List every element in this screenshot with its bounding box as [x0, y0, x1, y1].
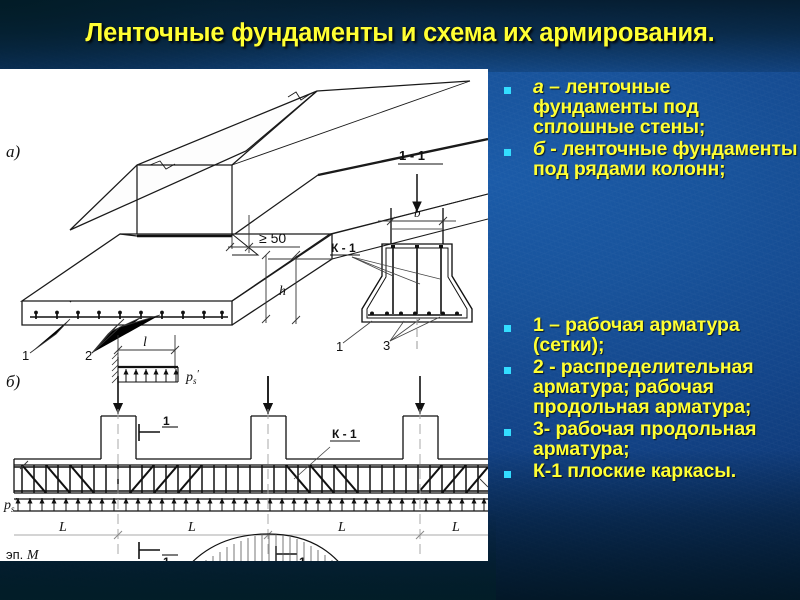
- figure-cut-mark-1-bottom: 1: [163, 555, 170, 561]
- figure-label-k1-section: К - 1: [331, 241, 356, 255]
- figure-label-l: l: [143, 335, 147, 350]
- bullet-text-b: б - ленточные фундаменты под рядами коло…: [533, 140, 800, 180]
- bullet-square-icon: [504, 325, 511, 332]
- figure-cut-mark-1-top: 1: [163, 414, 170, 428]
- figure-span-L-3: L: [337, 520, 346, 535]
- bullet-square-icon: [504, 429, 511, 436]
- bullet-lead-a: а: [533, 76, 544, 98]
- slide-title: Ленточные фундаменты и схема их армирова…: [0, 19, 800, 48]
- figure-span-L-4: L: [451, 520, 460, 535]
- figure-label-k1-plan: К - 1: [332, 427, 357, 441]
- figure-label-min-gap: ≥ 50: [259, 230, 286, 246]
- bullet-list: а – ленточные фундаменты под сплошные ст…: [504, 78, 800, 588]
- spacer: [504, 181, 800, 318]
- figure-span-L-1: L: [58, 520, 67, 535]
- list-item[interactable]: б - ленточные фундаменты под рядами коло…: [504, 140, 800, 180]
- list-item[interactable]: 1 – рабочая арматура (сетки);: [504, 316, 800, 356]
- bullet-rest-b: - ленточные фундаменты под рядами колонн…: [533, 138, 797, 180]
- figure-label-h: h: [279, 284, 286, 299]
- foundation-drawing: а) б) 1 - 1 К - 1 К - 1 ≥ 50 h l b 1 2 1…: [0, 69, 488, 561]
- figure-span-L-2: L: [187, 520, 196, 535]
- bullet-text-k1: К-1 плоские каркасы.: [533, 462, 736, 482]
- bullet-text-2: 2 - распределительная арматура; рабочая …: [533, 358, 800, 418]
- figure-mark-1-section: 1: [336, 339, 343, 354]
- bullet-square-icon: [504, 367, 511, 374]
- figure-mark-3-section: 3: [383, 338, 390, 353]
- bullet-rest-a: – ленточные фундаменты под сплошные стен…: [533, 76, 705, 138]
- list-item[interactable]: 2 - распределительная арматура; рабочая …: [504, 358, 800, 418]
- figure-cut-mark-1-moment: 1: [299, 555, 306, 561]
- bullet-text-1: 1 – рабочая арматура (сетки);: [533, 316, 800, 356]
- slide-canvas: Ленточные фундаменты и схема их армирова…: [0, 0, 800, 600]
- figure-label-section-1-1: 1 - 1: [399, 148, 425, 163]
- figure-mark-2-a: 2: [85, 348, 92, 363]
- figure-label-part-b: б): [6, 372, 21, 391]
- figure-label-moment-diagram: эп. M: [6, 547, 40, 561]
- figure-panel: а) б) 1 - 1 К - 1 К - 1 ≥ 50 h l b 1 2 1…: [0, 69, 488, 561]
- bullet-text-a: а – ленточные фундаменты под сплошные ст…: [533, 78, 800, 138]
- figure-label-part-a: а): [6, 142, 21, 161]
- figure-mark-1-a: 1: [22, 348, 29, 363]
- bullet-square-icon: [504, 149, 511, 156]
- bullet-lead-b: б: [533, 138, 545, 160]
- bullet-square-icon: [504, 471, 511, 478]
- list-item[interactable]: К-1 плоские каркасы.: [504, 462, 800, 482]
- bullet-square-icon: [504, 87, 511, 94]
- bullet-text-3: 3- рабочая продольная арматура;: [533, 420, 800, 460]
- list-item[interactable]: 3- рабочая продольная арматура;: [504, 420, 800, 460]
- list-item[interactable]: а – ленточные фундаменты под сплошные ст…: [504, 78, 800, 138]
- figure-label-b: b: [414, 205, 421, 220]
